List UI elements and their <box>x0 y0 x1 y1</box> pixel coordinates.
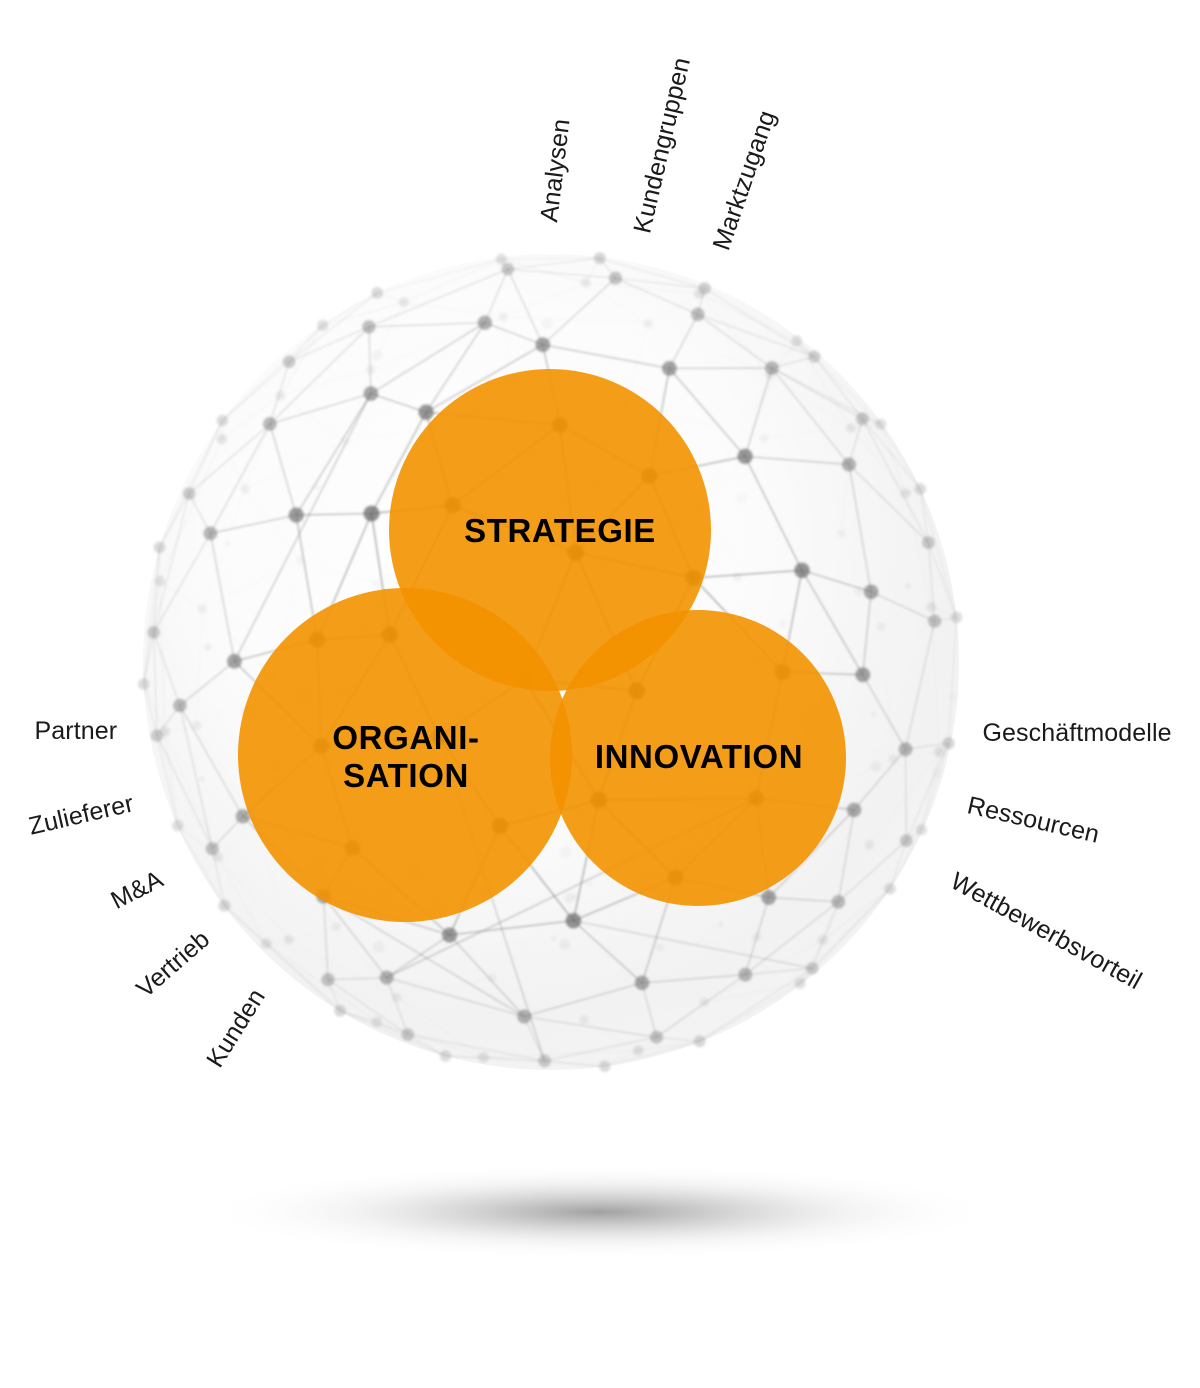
ring-label-partner: Partner <box>35 719 118 744</box>
core-circle-title-innovation: INNOVATION <box>595 738 803 776</box>
sphere-edges-over-bubbles <box>144 258 957 1066</box>
core-circle-title-strategie: STRATEGIE <box>464 512 656 550</box>
sphere-nodes-over-bubbles <box>138 252 962 1072</box>
diagram-canvas: STRATEGIEORGANI- SATIONINNOVATION Analys… <box>0 0 1200 1388</box>
ring-label-geschaeftmodelle: Geschäftmodelle <box>983 721 1172 746</box>
core-circle-title-organisation: ORGANI- SATION <box>332 719 479 795</box>
sphere-overlay-lines <box>0 0 1200 1388</box>
